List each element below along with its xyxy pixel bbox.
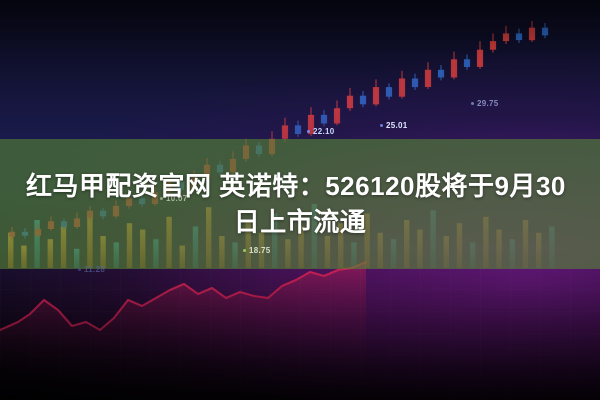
price-label-11-28: 11.28 bbox=[78, 265, 105, 274]
price-label-text: 22.10 bbox=[313, 127, 335, 136]
price-label-text: 25.01 bbox=[386, 121, 408, 130]
price-dot-icon bbox=[160, 197, 163, 200]
price-label-10-07: 10.07 bbox=[160, 194, 188, 203]
price-label-text: 10.07 bbox=[166, 194, 188, 203]
price-label-25-01: 25.01 bbox=[380, 121, 408, 130]
price-label-text: 29.75 bbox=[477, 99, 499, 108]
price-label-22-10: 22.10 bbox=[307, 127, 335, 136]
price-dot-icon bbox=[471, 102, 474, 105]
price-dot-icon bbox=[380, 124, 383, 127]
price-dot-icon bbox=[243, 249, 246, 252]
banner-image: 10.07 18.75 红马甲配资官网 英诺特：526120股将于9月30 日上… bbox=[0, 0, 600, 400]
price-dot-icon bbox=[307, 130, 310, 133]
price-label-29-75: 29.75 bbox=[471, 99, 499, 108]
price-dot-icon bbox=[78, 268, 81, 271]
headline-band bbox=[0, 139, 600, 269]
price-label-text: 18.75 bbox=[249, 246, 271, 255]
price-label-text: 11.28 bbox=[84, 265, 105, 274]
price-label-18-75: 18.75 bbox=[243, 246, 271, 255]
